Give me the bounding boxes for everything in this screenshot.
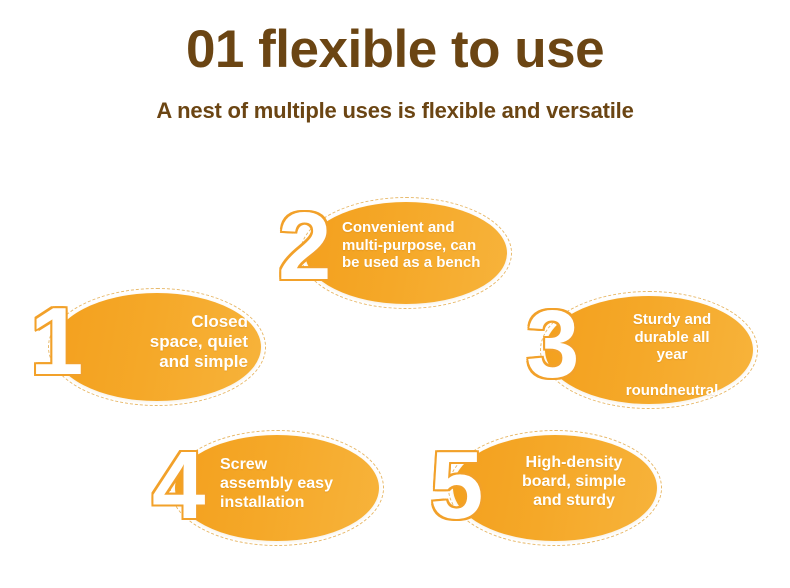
feature-card-3[interactable]: Sturdy and durable all year roundneutral… — [540, 291, 758, 409]
step-number-5: 5 — [430, 438, 483, 534]
step-number-1: 1 — [30, 294, 83, 390]
step-number-4: 4 — [152, 438, 205, 534]
page-title: 01 flexible to use — [0, 0, 790, 78]
step-number-2: 2 — [278, 199, 331, 295]
feature-card-text: Closed space, quiet and simple — [96, 312, 248, 372]
header: 01 flexible to use A nest of multiple us… — [0, 0, 790, 124]
feature-card-4[interactable]: Screw assembly easy installation 4 — [170, 430, 384, 546]
feature-card-2[interactable]: Convenient and multi-purpose, can be use… — [300, 197, 512, 309]
feature-card-1[interactable]: Closed space, quiet and simple 1 — [48, 288, 266, 406]
feature-card-text: Sturdy and durable all year roundneutral — [598, 311, 746, 399]
feature-card-text: High-density board, simple and sturdy — [498, 454, 650, 511]
infographic-canvas: 01 flexible to use A nest of multiple us… — [0, 0, 790, 588]
page-subtitle: A nest of multiple uses is flexible and … — [0, 78, 790, 124]
feature-card-text: Screw assembly easy installation — [220, 456, 372, 513]
feature-card-text: Convenient and multi-purpose, can be use… — [342, 219, 502, 272]
step-number-3: 3 — [526, 297, 579, 393]
feature-card-5[interactable]: High-density board, simple and sturdy 5 — [448, 430, 662, 546]
